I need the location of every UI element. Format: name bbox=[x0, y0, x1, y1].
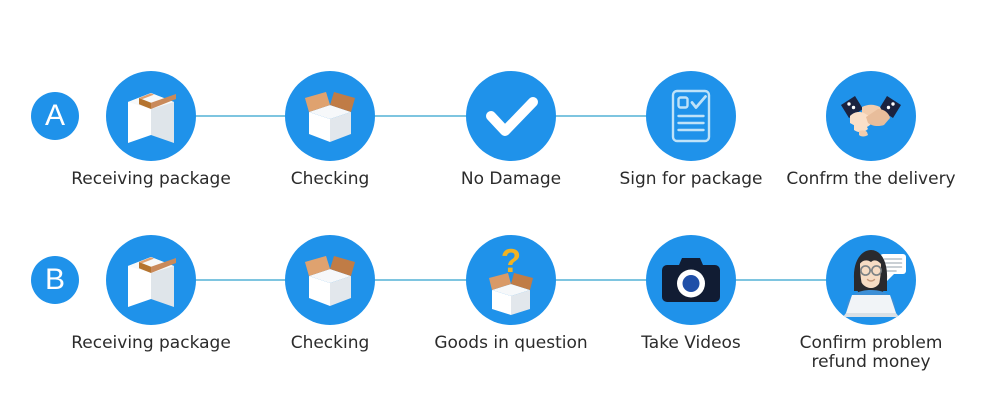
clipboard-check-icon bbox=[646, 71, 736, 161]
step-b-goods-in-question[interactable]: ? Goods in question bbox=[426, 206, 596, 353]
step-label: Confirm problem refund money bbox=[786, 334, 956, 372]
svg-text:?: ? bbox=[501, 242, 521, 279]
closed-box-icon bbox=[106, 235, 196, 325]
step-label: Sign for package bbox=[606, 170, 776, 189]
closed-box-icon bbox=[106, 71, 196, 161]
check-mark-icon bbox=[466, 71, 556, 161]
step-a-checking[interactable]: Checking bbox=[245, 42, 415, 189]
support-agent-icon bbox=[826, 235, 916, 325]
step-label: Take Videos bbox=[606, 334, 776, 353]
step-a-receiving-package[interactable]: Receiving package bbox=[66, 42, 236, 189]
open-box-icon bbox=[285, 71, 375, 161]
step-label: Receiving package bbox=[66, 334, 236, 353]
step-a-no-damage[interactable]: No Damage bbox=[426, 42, 596, 189]
step-b-receiving-package[interactable]: Receiving package bbox=[66, 206, 236, 353]
step-a-sign-for-package[interactable]: Sign for package bbox=[606, 42, 776, 189]
step-b-checking[interactable]: Checking bbox=[245, 206, 415, 353]
step-b-confirm-refund[interactable]: Confirm problem refund money bbox=[786, 206, 956, 372]
process-row-b: B Receiving package bbox=[0, 206, 1000, 366]
step-label: Confrm the delivery bbox=[786, 170, 956, 189]
step-label: No Damage bbox=[426, 170, 596, 189]
handshake-icon bbox=[826, 71, 916, 161]
step-label: Goods in question bbox=[426, 334, 596, 353]
step-a-confirm-delivery[interactable]: Confrm the delivery bbox=[786, 42, 956, 189]
step-label: Receiving package bbox=[66, 170, 236, 189]
step-label: Checking bbox=[245, 334, 415, 353]
step-label: Checking bbox=[245, 170, 415, 189]
camera-icon bbox=[646, 235, 736, 325]
question-box-icon: ? bbox=[466, 235, 556, 325]
process-row-a: A Receiving package bbox=[0, 42, 1000, 202]
open-box-icon bbox=[285, 235, 375, 325]
step-b-take-videos[interactable]: Take Videos bbox=[606, 206, 776, 353]
delivery-process-infographic: A Receiving package bbox=[0, 0, 1000, 406]
